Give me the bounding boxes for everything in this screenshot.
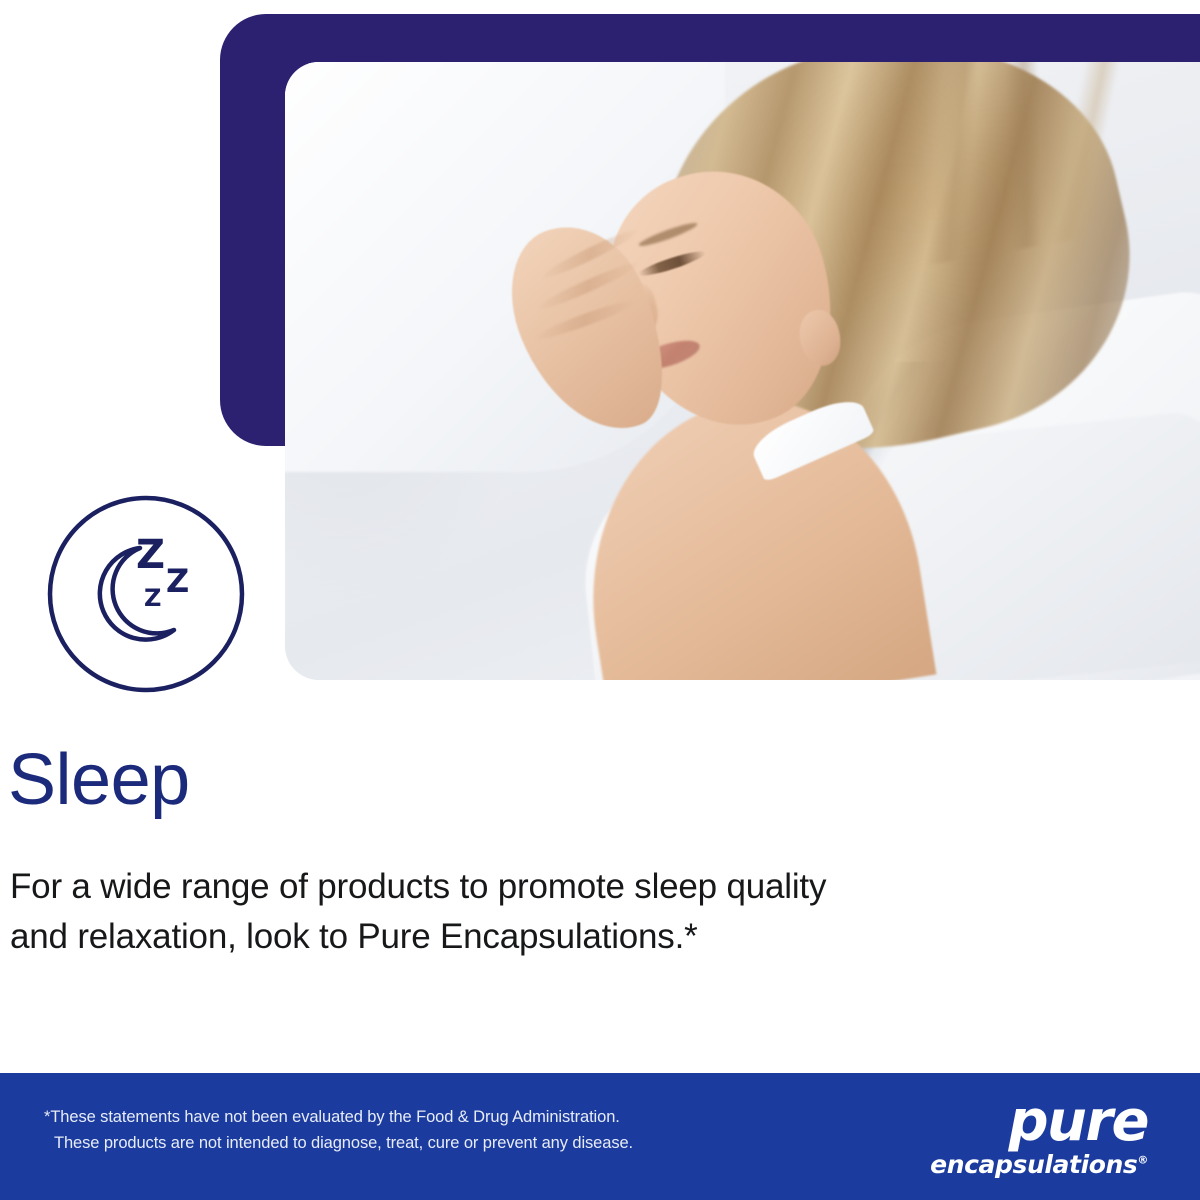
- svg-text:Z: Z: [136, 532, 165, 578]
- disclaimer-line-1: *These statements have not been evaluate…: [44, 1108, 620, 1126]
- footer-bar: *These statements have not been evaluate…: [0, 1073, 1200, 1200]
- disclaimer-text: *These statements have not been evaluate…: [44, 1104, 764, 1156]
- registered-trademark-icon: ®: [1137, 1154, 1148, 1167]
- description-line-1: For a wide range of products to promote …: [10, 867, 826, 906]
- lifestyle-photo: [285, 62, 1200, 680]
- moon-zzz-sleep-icon: Z Z Z: [44, 492, 248, 696]
- svg-text:Z: Z: [166, 562, 189, 600]
- logo-encapsulations-text: encapsulations: [930, 1150, 1137, 1179]
- product-banner: Z Z Z Sleep For a wide range of products…: [0, 0, 1200, 1200]
- description-text: For a wide range of products to promote …: [10, 862, 1150, 961]
- svg-text:Z: Z: [144, 584, 161, 612]
- hero-section: Z Z Z Sleep For a wide range of products…: [0, 0, 1200, 1060]
- page-title: Sleep: [8, 744, 190, 816]
- disclaimer-line-2: These products are not intended to diagn…: [44, 1130, 764, 1156]
- description-line-2: and relaxation, look to Pure Encapsulati…: [10, 917, 698, 956]
- pure-encapsulations-logo: pure encapsulations®: [928, 1095, 1148, 1181]
- logo-wordmark-pure: pure: [928, 1095, 1148, 1150]
- logo-wordmark-encapsulations: encapsulations®: [928, 1152, 1148, 1177]
